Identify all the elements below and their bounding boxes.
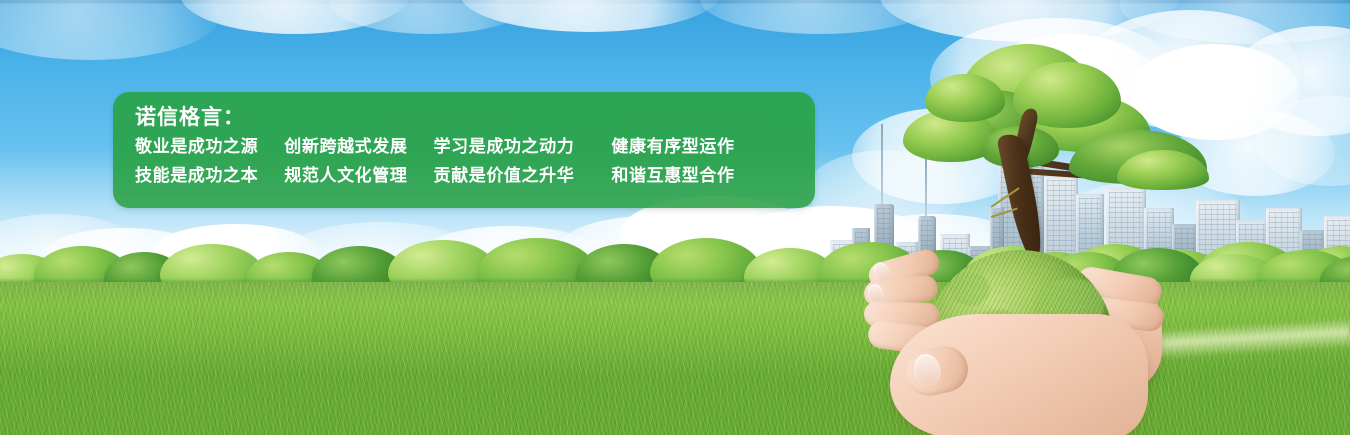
slogan-panel: 诺信格言： 敬业是成功之源 创新跨越式发展 学习是成功之动力 健康有序型运作 技… (113, 92, 815, 208)
slogan-title: 诺信格言： (135, 106, 815, 128)
slogan-item: 健康有序型运作 (611, 139, 734, 156)
slogan-item: 规范人文化管理 (284, 168, 407, 185)
slogan-item: 创新跨越式发展 (284, 139, 407, 156)
slogan-line-2: 技能是成功之本 规范人文化管理 贡献是价值之升华 和谐互惠型合作 (135, 168, 815, 185)
bonsai-tree (905, 38, 1205, 273)
slogan-item: 和谐互惠型合作 (611, 168, 734, 185)
slogan-item: 技能是成功之本 (135, 168, 258, 185)
slogan-line-1: 敬业是成功之源 创新跨越式发展 学习是成功之动力 健康有序型运作 (135, 139, 815, 156)
slogan-item: 贡献是价值之升华 (434, 168, 575, 185)
cupped-hands-with-globe (862, 252, 1162, 435)
slogan-item: 学习是成功之动力 (434, 139, 575, 156)
eco-banner: 诺信格言： 敬业是成功之源 创新跨越式发展 学习是成功之动力 健康有序型运作 技… (0, 0, 1350, 435)
slogan-item: 敬业是成功之源 (135, 139, 258, 156)
